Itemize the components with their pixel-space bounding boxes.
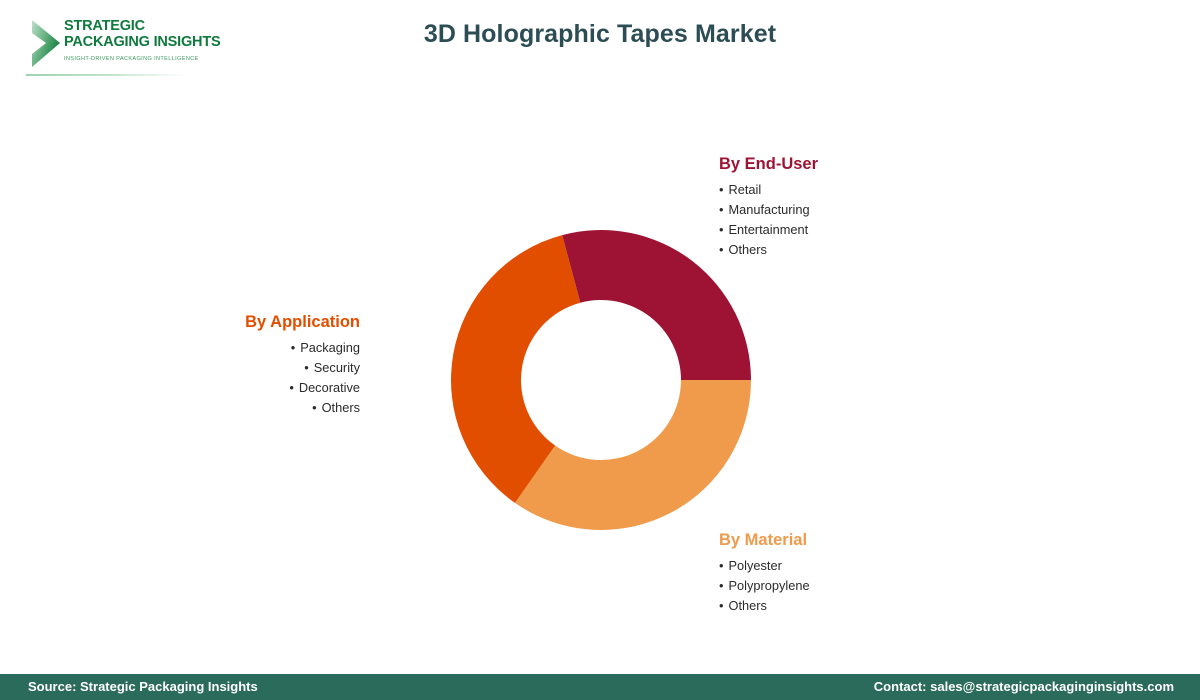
segment-title-end-user: By End-User xyxy=(719,155,818,174)
bullet-icon: • xyxy=(719,558,723,573)
segment-title-application: By Application xyxy=(160,313,360,332)
list-item: •Others xyxy=(719,240,818,260)
bullet-icon: • xyxy=(719,222,723,237)
bullet-icon: • xyxy=(291,340,295,355)
logo-tagline: INSIGHT-DRIVEN PACKAGING INTELLIGENCE xyxy=(64,56,214,62)
segment-list-material: •Polyester•Polypropylene•Others xyxy=(719,556,810,616)
bullet-icon: • xyxy=(719,202,723,217)
list-item-label: Entertainment xyxy=(728,222,808,237)
donut-slice[interactable] xyxy=(515,380,751,530)
list-item: •Manufacturing xyxy=(719,200,818,220)
footer-source-text: Source: Strategic Packaging Insights xyxy=(28,679,258,694)
list-item-label: Others xyxy=(728,598,766,613)
segment-list-application: •Packaging•Security•Decorative•Others xyxy=(160,338,360,418)
list-item-label: Polyester xyxy=(728,558,781,573)
bullet-icon: • xyxy=(719,578,723,593)
list-item: •Decorative xyxy=(160,378,360,398)
footer-bar: Source: Strategic Packaging Insights Con… xyxy=(0,674,1200,700)
list-item: •Others xyxy=(719,596,810,616)
donut-chart xyxy=(450,229,752,531)
list-item-label: Packaging xyxy=(300,340,360,355)
list-item-label: Manufacturing xyxy=(728,202,809,217)
bullet-icon: • xyxy=(304,360,308,375)
bullet-icon: • xyxy=(719,598,723,613)
logo-underline-divider xyxy=(26,74,186,76)
list-item: •Security xyxy=(160,358,360,378)
list-item: •Polypropylene xyxy=(719,576,810,596)
list-item: •Polyester xyxy=(719,556,810,576)
list-item-label: Others xyxy=(322,400,360,415)
segment-title-material: By Material xyxy=(719,531,810,550)
list-item: •Packaging xyxy=(160,338,360,358)
list-item-label: Decorative xyxy=(299,380,360,395)
bullet-icon: • xyxy=(719,182,723,197)
segment-group-application: By Application •Packaging•Security•Decor… xyxy=(160,313,360,418)
list-item-label: Polypropylene xyxy=(728,578,809,593)
list-item: •Entertainment xyxy=(719,220,818,240)
segment-list-end-user: •Retail•Manufacturing•Entertainment•Othe… xyxy=(719,180,818,260)
page-title: 3D Holographic Tapes Market xyxy=(0,20,1200,49)
bullet-icon: • xyxy=(289,380,293,395)
list-item-label: Retail xyxy=(728,182,761,197)
list-item: •Retail xyxy=(719,180,818,200)
footer-contact-text[interactable]: Contact: sales@strategicpackaginginsight… xyxy=(874,679,1174,694)
segment-group-end-user: By End-User •Retail•Manufacturing•Entert… xyxy=(719,155,818,260)
bullet-icon: • xyxy=(719,242,723,257)
list-item-label: Security xyxy=(314,360,360,375)
bullet-icon: • xyxy=(312,400,316,415)
infographic-page: STRATEGIC PACKAGING INSIGHTS INSIGHT-DRI… xyxy=(0,0,1200,700)
list-item: •Others xyxy=(160,398,360,418)
segment-group-material: By Material •Polyester•Polypropylene•Oth… xyxy=(719,531,810,616)
list-item-label: Others xyxy=(728,242,766,257)
